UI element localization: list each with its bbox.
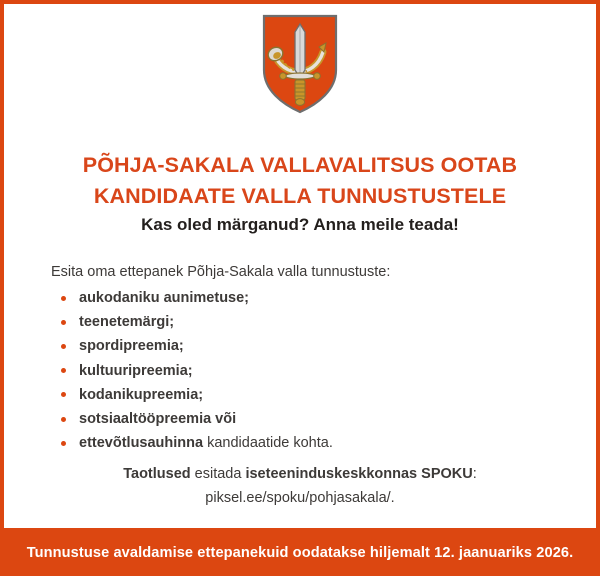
list-item: ettevõtlusauhinna kandidaatide kohta. bbox=[51, 431, 556, 455]
bullet-dot-icon bbox=[61, 417, 66, 422]
apply-lead-tail: : bbox=[473, 466, 477, 482]
list-item-label: kodanikupreemia; bbox=[79, 387, 203, 403]
bullet-dot-icon bbox=[61, 368, 66, 373]
apply-lead-bold: Taotlused bbox=[123, 466, 190, 482]
list-item-suffix: kandidaatide kohta. bbox=[203, 435, 333, 451]
bullet-dot-icon bbox=[61, 441, 66, 446]
list-item-label: aukodaniku aunimetuse; bbox=[79, 290, 249, 306]
deadline-banner: Tunnustuse avaldamise ettepanekuid oodat… bbox=[0, 528, 600, 576]
bullet-dot-icon bbox=[61, 344, 66, 349]
page-title-line-1: PÕHJA-SAKALA VALLAVALITSUS OOTAB bbox=[4, 150, 596, 181]
body-content: Esita oma ettepanek Põhja-Sakala valla t… bbox=[51, 262, 556, 455]
list-item: teenetemärgi; bbox=[51, 310, 556, 334]
list-item: aukodaniku aunimetuse; bbox=[51, 286, 556, 310]
poster-canvas: PÕHJA-SAKALA VALLAVALITSUS OOTAB KANDIDA… bbox=[0, 0, 600, 576]
list-item: kodanikupreemia; bbox=[51, 383, 556, 407]
list-item-label: ettevõtlusauhinna bbox=[79, 435, 203, 451]
list-item-label: spordipreemia; bbox=[79, 338, 184, 354]
page-title-line-2: KANDIDAATE VALLA TUNNUSTUSTELE bbox=[4, 181, 596, 212]
apply-portal-name: iseteeninduskeskkonnas SPOKU bbox=[245, 466, 472, 482]
coat-of-arms-container bbox=[4, 14, 596, 119]
deadline-text: Tunnustuse avaldamise ettepanekuid oodat… bbox=[27, 543, 574, 561]
bullet-dot-icon bbox=[61, 392, 66, 397]
apply-lead-regular: esitada bbox=[191, 466, 246, 482]
list-item-label: sotsiaaltööpreemia või bbox=[79, 411, 236, 427]
bullet-dot-icon bbox=[61, 296, 66, 301]
page-subtitle: Kas oled märganud? Anna meile teada! bbox=[4, 215, 596, 235]
spoku-portal-url[interactable]: piksel.ee/spoku/pohjasakala/. bbox=[4, 487, 596, 511]
intro-text: Esita oma ettepanek Põhja-Sakala valla t… bbox=[51, 262, 556, 282]
application-instructions: Taotlused esitada iseteeninduskeskkonnas… bbox=[4, 463, 596, 510]
list-item: spordipreemia; bbox=[51, 334, 556, 358]
list-item: kultuuripreemia; bbox=[51, 359, 556, 383]
list-item: sotsiaaltööpreemia või bbox=[51, 407, 556, 431]
list-item-label: teenetemärgi; bbox=[79, 314, 174, 330]
coat-of-arms-icon bbox=[262, 14, 338, 114]
list-item-label: kultuuripreemia; bbox=[79, 363, 193, 379]
award-category-list: aukodaniku aunimetuse; teenetemärgi; spo… bbox=[51, 286, 556, 455]
page-title: PÕHJA-SAKALA VALLAVALITSUS OOTAB KANDIDA… bbox=[4, 150, 596, 212]
bullet-dot-icon bbox=[61, 320, 66, 325]
